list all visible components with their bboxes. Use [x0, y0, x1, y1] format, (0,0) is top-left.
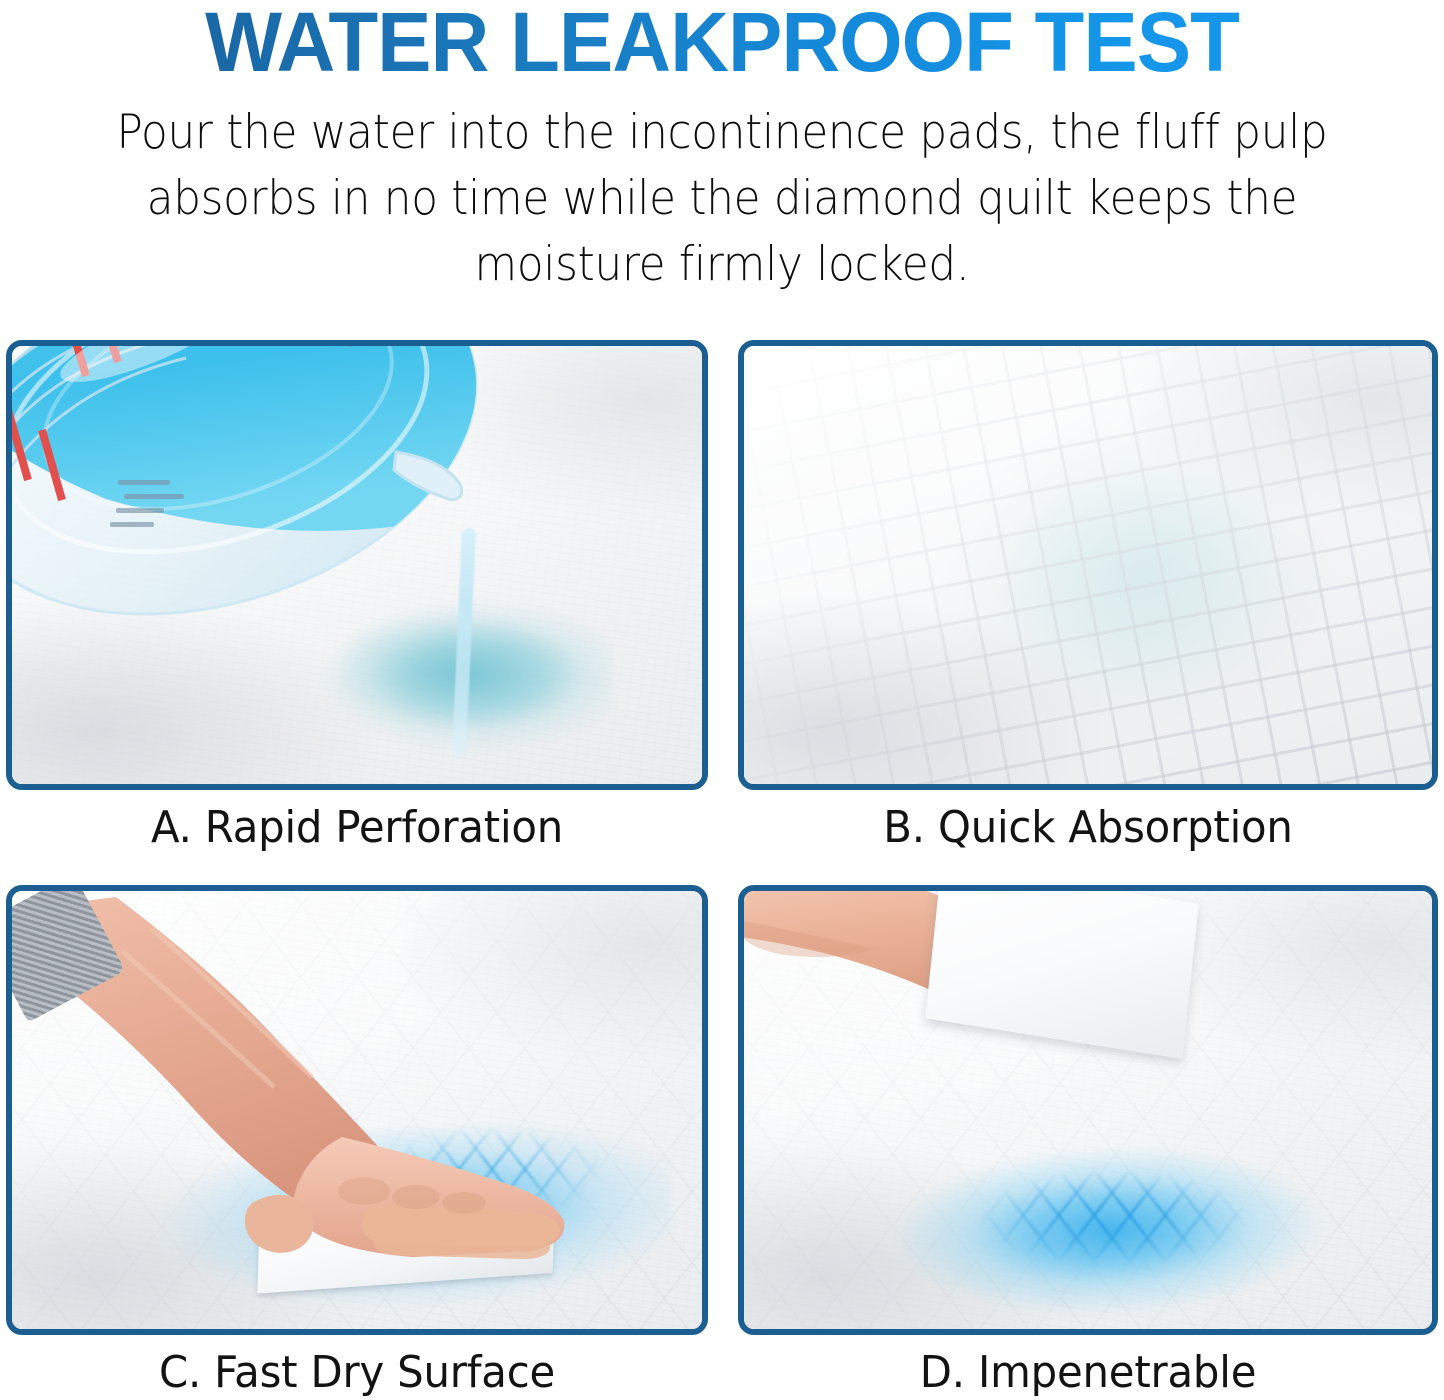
panel-a-photo — [12, 346, 702, 784]
panel-c: C. Fast Dry Surface — [6, 885, 708, 1400]
panel-grid: A. Rapid Perforation B. Quick Absorption — [0, 340, 1444, 1400]
panel-b-photo — [744, 346, 1432, 784]
panel-c-photo — [12, 891, 702, 1329]
panel-a-caption: A. Rapid Perforation — [24, 800, 691, 856]
header: WATER LEAKPROOF TEST Pour the water into… — [0, 0, 1444, 330]
panel-d: D. Impenetrable — [738, 885, 1438, 1400]
measuring-cup — [12, 346, 526, 644]
panel-d-caption: D. Impenetrable — [756, 1345, 1421, 1400]
page-subtitle: Pour the water into the incontinence pad… — [90, 100, 1355, 298]
panel-c-caption: C. Fast Dry Surface — [24, 1345, 691, 1400]
panel-c-photo-frame — [6, 885, 708, 1335]
pad-shading — [744, 346, 1432, 784]
page-title: WATER LEAKPROOF TEST — [22, 0, 1423, 88]
panel-b-photo-frame — [738, 340, 1438, 790]
measuring-cup-graphic — [12, 346, 526, 644]
panel-a-photo-frame — [6, 340, 708, 790]
panel-a: A. Rapid Perforation — [6, 340, 708, 860]
panel-b-caption: B. Quick Absorption — [756, 800, 1421, 856]
panel-d-photo-frame — [738, 885, 1438, 1335]
panel-b: B. Quick Absorption — [738, 340, 1438, 860]
panel-d-photo — [744, 891, 1432, 1329]
infographic-page: WATER LEAKPROOF TEST Pour the water into… — [0, 0, 1444, 1400]
